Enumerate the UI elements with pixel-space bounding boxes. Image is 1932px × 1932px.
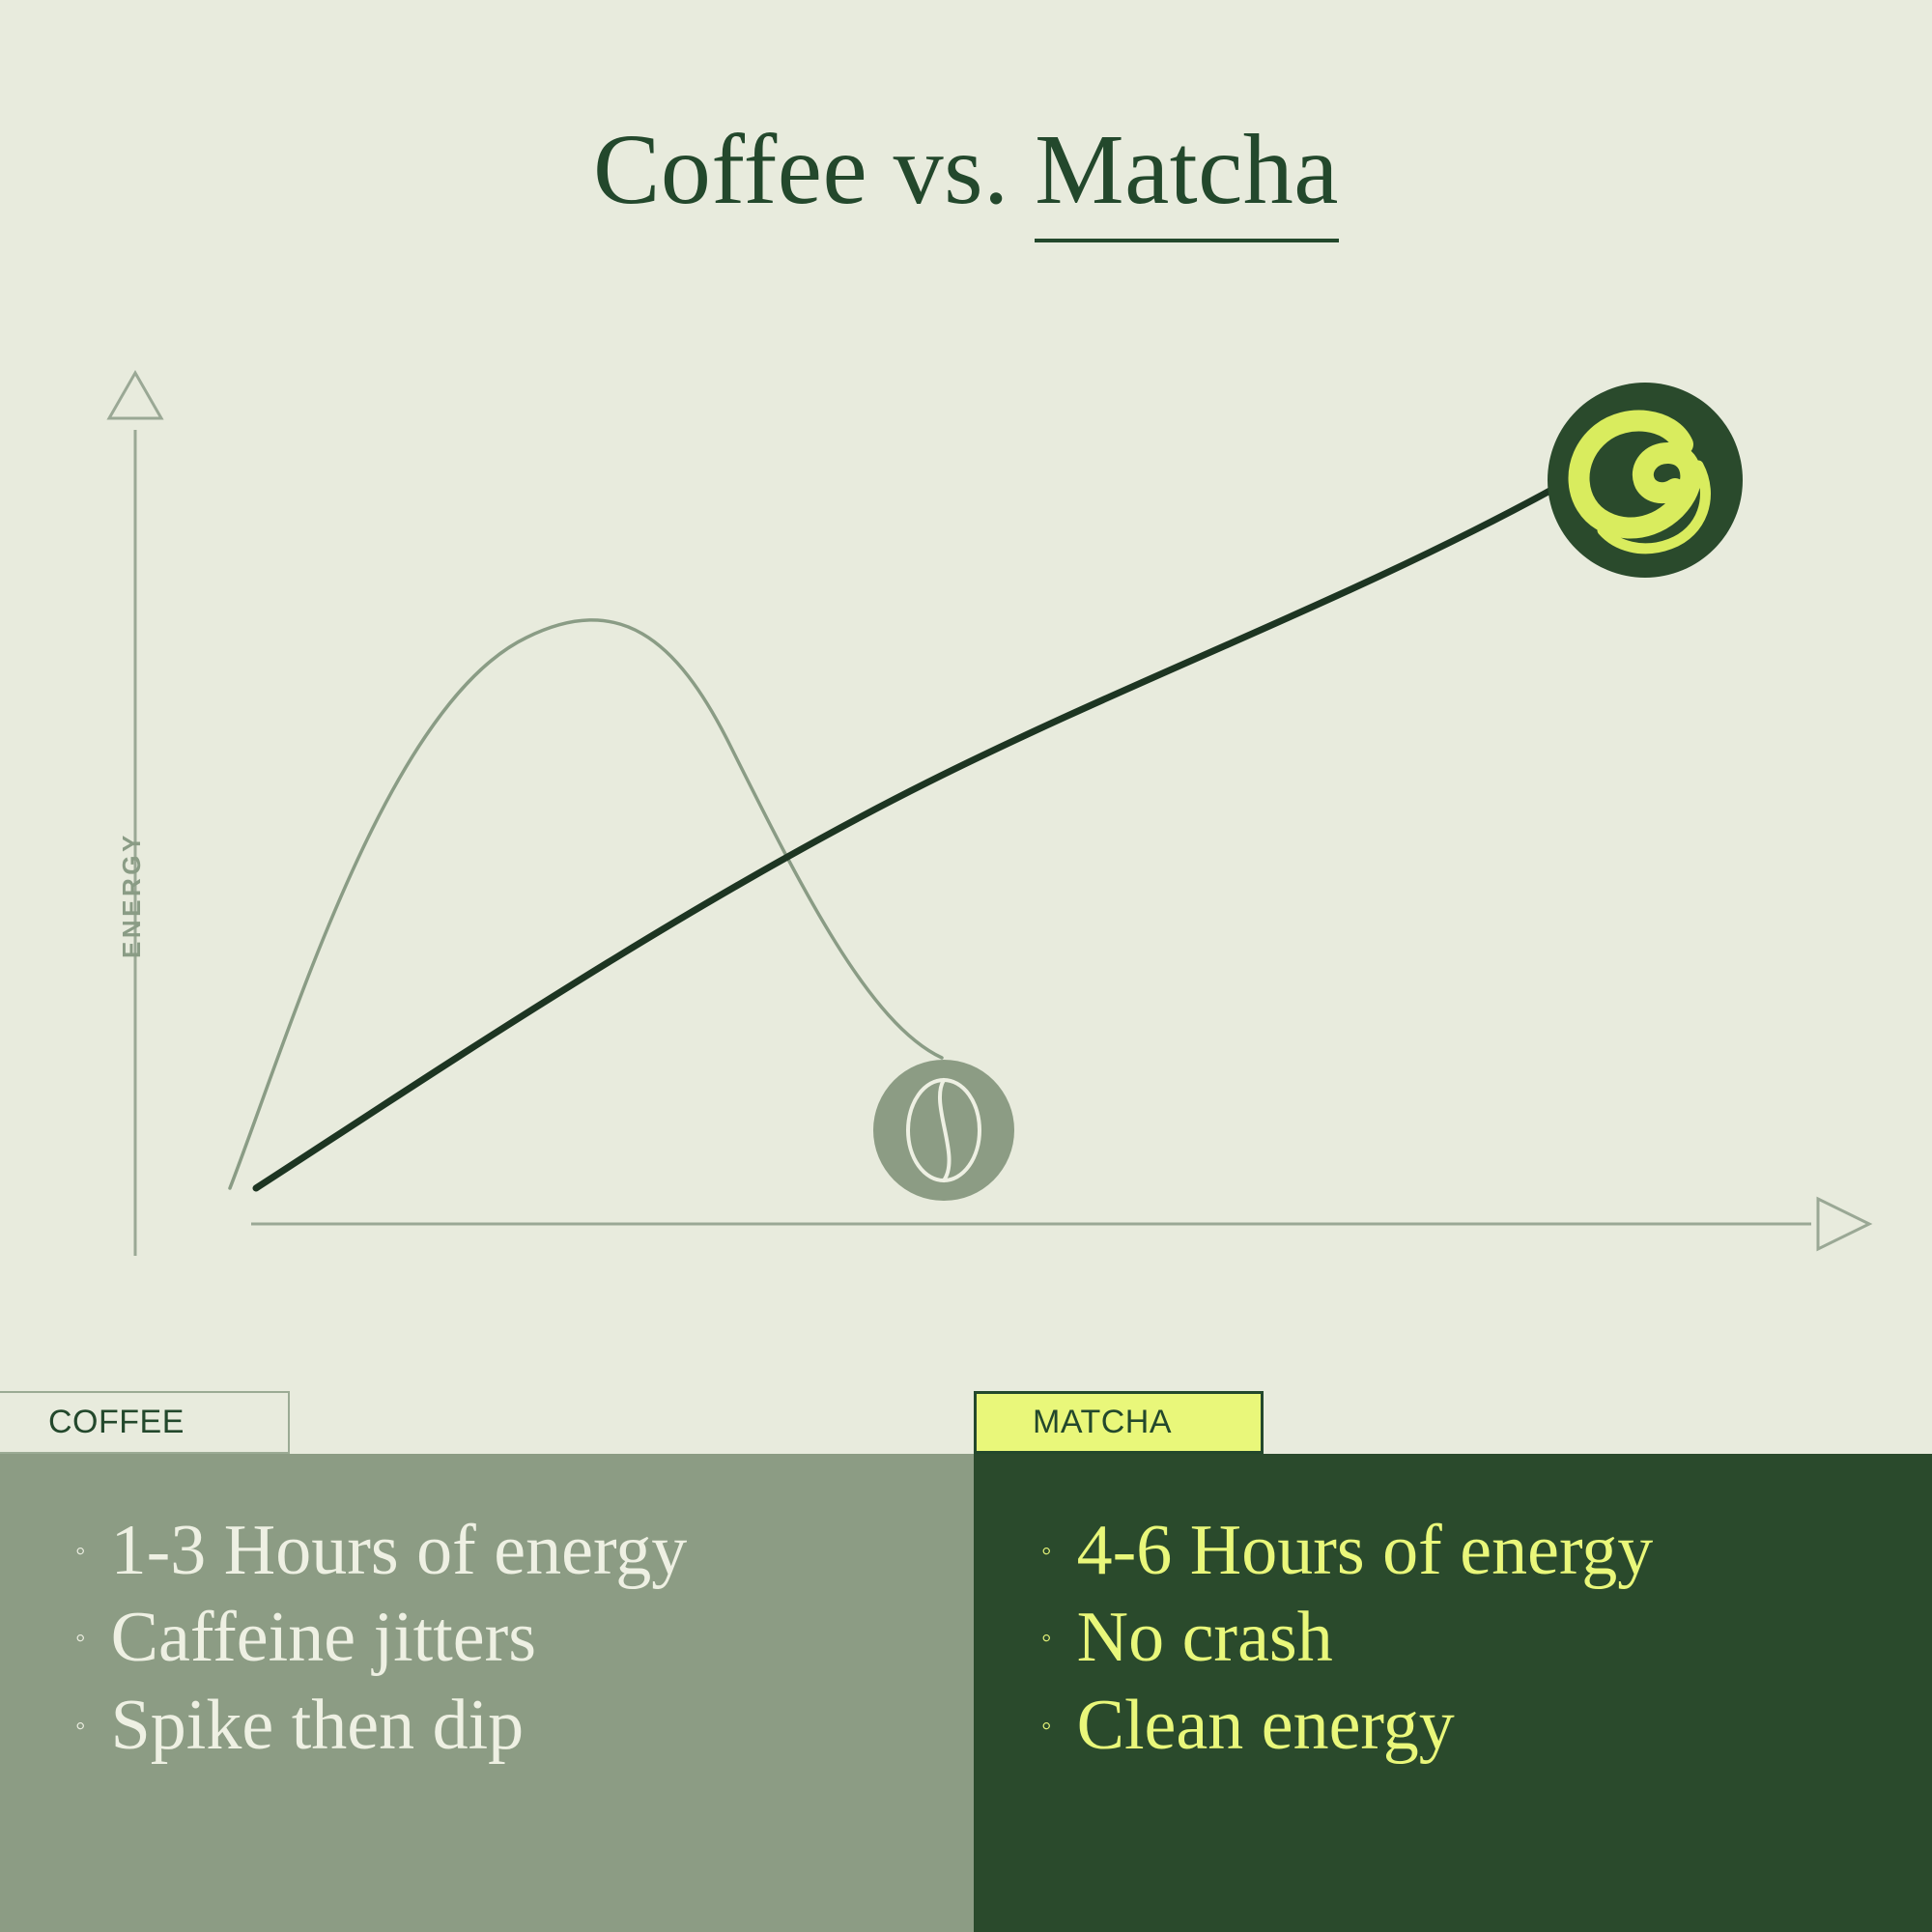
bullet-icon: ◦ [1041, 1534, 1052, 1570]
title-part-coffee: Coffee vs. [593, 114, 1009, 225]
list-item-label: Spike then dip [111, 1682, 525, 1769]
chart-svg [0, 290, 1932, 1352]
list-item-label: Caffeine jitters [111, 1594, 536, 1681]
list-item: ◦ 4-6 Hours of energy [1041, 1507, 1932, 1594]
bullet-icon: ◦ [1041, 1709, 1052, 1745]
coffee-benefit-list: ◦ 1-3 Hours of energy ◦ Caffeine jitters… [75, 1507, 974, 1769]
bullet-icon: ◦ [1041, 1621, 1052, 1657]
page-title: Coffee vs. Matcha [0, 114, 1932, 226]
panel-coffee: ◦ 1-3 Hours of energy ◦ Caffeine jitters… [0, 1454, 974, 1932]
panel-matcha: ◦ 4-6 Hours of energy ◦ No crash ◦ Clean… [974, 1454, 1932, 1932]
matcha-enso-logo[interactable] [1548, 383, 1743, 578]
list-item: ◦ No crash [1041, 1594, 1932, 1681]
tab-matcha[interactable]: MATCHA [974, 1391, 1264, 1454]
tab-coffee[interactable]: COFFEE [0, 1391, 290, 1454]
matcha-benefit-list: ◦ 4-6 Hours of energy ◦ No crash ◦ Clean… [1041, 1507, 1932, 1769]
comparison-tabs: COFFEE MATCHA [0, 1391, 1932, 1454]
tab-coffee-label: COFFEE [48, 1404, 185, 1441]
list-item-label: Clean energy [1077, 1682, 1455, 1769]
y-axis-label: ENERGY [117, 832, 147, 958]
tab-matcha-label: MATCHA [1033, 1404, 1172, 1441]
list-item: ◦ Clean energy [1041, 1682, 1932, 1769]
list-item: ◦ 1-3 Hours of energy [75, 1507, 974, 1594]
infographic-root: Coffee vs. Matcha [0, 0, 1932, 1932]
energy-curve-chart: ENERGY TIME 1 HR 2 HRS 3 HRS 4 HRS 5 HRS [0, 290, 1932, 1314]
list-item-label: No crash [1077, 1594, 1333, 1681]
y-axis-arrow-icon [109, 373, 161, 418]
title-part-matcha: Matcha [1035, 114, 1339, 242]
x-axis-arrow-icon [1818, 1199, 1869, 1249]
bullet-icon: ◦ [75, 1709, 86, 1745]
list-item-label: 1-3 Hours of energy [111, 1507, 688, 1594]
bullet-icon: ◦ [75, 1534, 86, 1570]
list-item: ◦ Spike then dip [75, 1682, 974, 1769]
comparison-panels: ◦ 1-3 Hours of energy ◦ Caffeine jitters… [0, 1454, 1932, 1932]
bullet-icon: ◦ [75, 1621, 86, 1657]
coffee-bean-marker[interactable] [873, 1060, 1014, 1201]
list-item-label: 4-6 Hours of energy [1077, 1507, 1654, 1594]
list-item: ◦ Caffeine jitters [75, 1594, 974, 1681]
coffee-energy-curve [230, 620, 942, 1188]
